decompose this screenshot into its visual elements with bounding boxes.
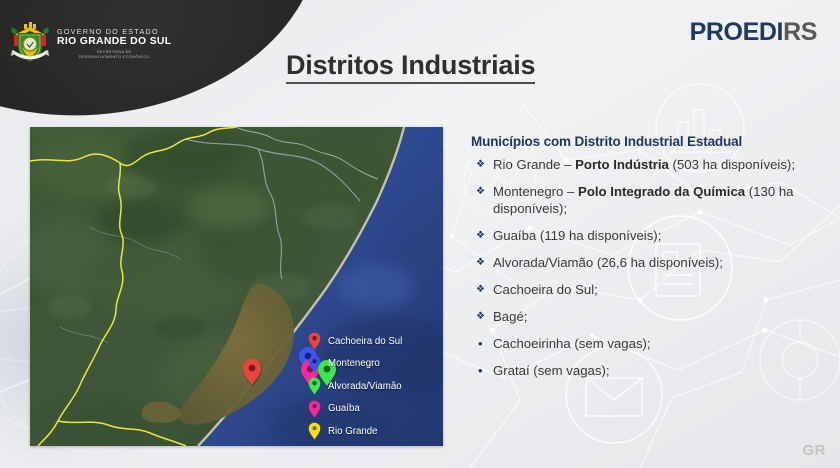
rio-grande-do-sul-coat-of-arms-icon: REPÚBLICA RIO-GRANDENSE <box>10 21 50 68</box>
map-pin-icon <box>308 400 321 418</box>
legend-item: Alvorada/Viamão <box>308 375 402 398</box>
bullet-diamond-icon: ❖ <box>471 183 493 218</box>
list-item: ❖ Rio Grande – Porto Indústria (503 ha d… <box>471 156 826 174</box>
map-pin-icon <box>308 355 321 373</box>
map-legend: Cachoeira do Sul Montenegro Alvorada/Via… <box>308 330 402 443</box>
legend-item-label: Rio Grande <box>328 426 378 437</box>
content-column: Municípios com Distrito Industrial Estad… <box>471 134 826 389</box>
list-item-post: (503 ha disponíveis); <box>669 157 795 172</box>
list-item-text: Grataí (sem vagas); <box>493 362 826 380</box>
list-item-pre: Rio Grande – <box>493 157 575 172</box>
map-pin-icon <box>308 332 321 350</box>
page-title-text: Distritos Industriais <box>286 50 535 84</box>
slide-canvas: REPÚBLICA RIO-GRANDENSE GOVERNO DO ESTAD… <box>0 0 840 468</box>
list-item: ❖ Guaíba (119 ha disponíveis); <box>471 227 826 245</box>
legend-item-label: Alvorada/Viamão <box>328 381 402 392</box>
list-item: ❖ Montenegro – Polo Integrado da Química… <box>471 183 826 218</box>
list-item-text: Guaíba (119 ha disponíveis); <box>493 227 826 245</box>
legend-item-label: Montenegro <box>328 358 380 369</box>
bullet-diamond-icon: ❖ <box>471 254 493 272</box>
map-pin-icon <box>308 377 321 395</box>
legend-item: Montenegro <box>308 353 402 376</box>
list-item-pre: Montenegro – <box>493 184 578 199</box>
legend-item: Cachoeira do Sul <box>308 330 402 353</box>
page-title: Distritos Industriais <box>286 50 535 81</box>
list-item-text: Montenegro – Polo Integrado da Química (… <box>493 183 826 218</box>
proedi-logo-part1: PROEDI <box>690 18 783 46</box>
legend-item: Rio Grande <box>308 420 402 443</box>
list-item-strong: Polo Integrado da Química <box>578 184 745 199</box>
list-item-text: Cachoeirinha (sem vagas); <box>493 335 826 353</box>
legend-item-label: Cachoeira do Sul <box>328 336 402 347</box>
bullet-diamond-icon: ❖ <box>471 308 493 326</box>
list-item: ❖ Cachoeira do Sul; <box>471 281 826 299</box>
list-item-strong: Porto Indústria <box>575 157 669 172</box>
proedi-rs-logo: PROEDIRS <box>690 18 817 47</box>
municipalities-list: ❖ Rio Grande – Porto Indústria (503 ha d… <box>471 156 826 380</box>
content-heading: Municípios com Distrito Industrial Estad… <box>471 134 826 149</box>
gov-logo-line3: SECRETARIA DEDESENVOLVIMENTO ECONÔMICO <box>57 50 171 61</box>
list-item: ❖ Alvorada/Viamão (26,6 ha disponíveis); <box>471 254 826 272</box>
list-item: • Grataí (sem vagas); <box>471 362 826 380</box>
legend-item-label: Guaíba <box>328 403 360 414</box>
list-item: • Cachoeirinha (sem vagas); <box>471 335 826 353</box>
map-pin-icon <box>308 422 321 440</box>
gov-logo-line1: GOVERNO DO ESTADO <box>57 28 171 36</box>
proedi-logo-part2: RS <box>783 18 817 46</box>
list-item-text: Cachoeira do Sul; <box>493 281 826 299</box>
list-item-text: Bagé; <box>493 308 826 326</box>
gov-logo-line2: RIO GRANDE DO SUL <box>57 37 171 48</box>
bullet-dot-icon: • <box>471 362 493 380</box>
bullet-diamond-icon: ❖ <box>471 156 493 174</box>
bullet-diamond-icon: ❖ <box>471 227 493 245</box>
bullet-dot-icon: • <box>471 335 493 353</box>
list-item-text: Alvorada/Viamão (26,6 ha disponíveis); <box>493 254 826 272</box>
bullet-diamond-icon: ❖ <box>471 281 493 299</box>
list-item-text: Rio Grande – Porto Indústria (503 ha dis… <box>493 156 826 174</box>
legend-item: Guaíba <box>308 398 402 421</box>
corner-watermark-gr: GR <box>803 442 827 459</box>
government-logo: REPÚBLICA RIO-GRANDENSE GOVERNO DO ESTAD… <box>10 21 171 68</box>
list-item: ❖ Bagé; <box>471 308 826 326</box>
